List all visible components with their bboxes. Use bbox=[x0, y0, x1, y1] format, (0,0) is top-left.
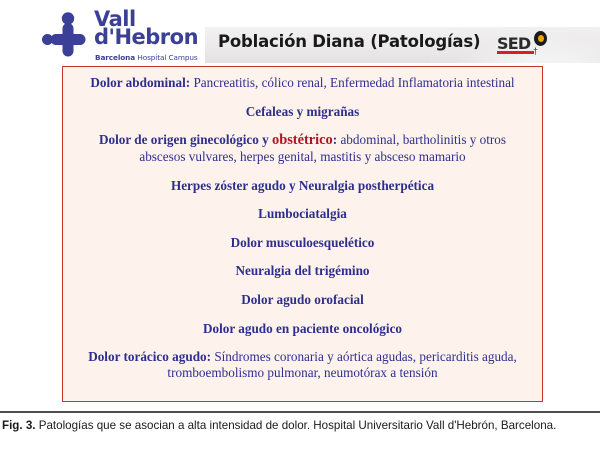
pathology-title: Dolor de origen ginecológico y bbox=[99, 132, 272, 147]
pathology-title: Dolor abdominal: bbox=[90, 75, 190, 90]
pathology-line: Dolor torácico agudo: Síndromes coronari… bbox=[73, 349, 532, 380]
pathology-detail: Pancreatitis, cólico renal, Enfermedad I… bbox=[190, 75, 514, 90]
sed-logo-underline bbox=[497, 51, 534, 54]
logo-subtitle-light: Hospital Campus bbox=[135, 53, 198, 62]
sed-target-icon bbox=[534, 31, 547, 46]
vall-dhebron-logo: Vall d'Hebron Barcelona Hospital Campus bbox=[42, 8, 212, 66]
pathology-detail: Síndromes coronaria y aórtica agudas, pe… bbox=[167, 349, 516, 380]
pathology-line: Lumbociatalgia bbox=[73, 206, 532, 222]
caption-divider bbox=[0, 411, 600, 413]
sed-runner-icon: † bbox=[533, 47, 538, 56]
vall-dhebron-cross-icon bbox=[42, 12, 94, 60]
pathology-title: Dolor musculoesquelético bbox=[231, 235, 375, 250]
figure-caption: Fig. 3. Patologías que se asocian a alta… bbox=[2, 418, 598, 433]
pathology-line: Dolor musculoesquelético bbox=[73, 235, 532, 251]
pathology-line: Dolor abdominal: Pancreatitis, cólico re… bbox=[73, 75, 532, 91]
pathology-title: Neuralgia del trigémino bbox=[235, 263, 369, 278]
pathology-title: Dolor agudo orofacial bbox=[241, 292, 364, 307]
slide-title: Población Diana (Patologías) bbox=[218, 32, 518, 51]
pathology-line: Dolor de origen ginecológico y obstétric… bbox=[73, 132, 532, 165]
pathology-title: Dolor torácico agudo: bbox=[88, 349, 211, 364]
pathology-line: Herpes zóster agudo y Neuralgia postherp… bbox=[73, 178, 532, 194]
figure-slide: Vall d'Hebron Barcelona Hospital Campus … bbox=[0, 0, 600, 408]
pathology-title: Cefaleas y migrañas bbox=[246, 104, 360, 119]
vall-dhebron-wordmark: Vall d'Hebron bbox=[94, 10, 198, 46]
caption-label: Fig. 3. bbox=[2, 419, 36, 432]
pathology-line: Dolor agudo en paciente oncológico bbox=[73, 321, 532, 337]
pathology-line: Cefaleas y migrañas bbox=[73, 104, 532, 120]
vall-dhebron-subtitle: Barcelona Hospital Campus bbox=[95, 53, 198, 62]
pathology-title: Dolor agudo en paciente oncológico bbox=[203, 321, 402, 336]
pathology-line: Neuralgia del trigémino bbox=[73, 263, 532, 279]
pathologies-box: Dolor abdominal: Pancreatitis, cólico re… bbox=[62, 66, 543, 402]
logo-subtitle-bold: Barcelona bbox=[95, 53, 135, 62]
pathology-title: Lumbociatalgia bbox=[258, 206, 347, 221]
sed-logo: SED † bbox=[497, 32, 555, 62]
logo-line-2: d'Hebron bbox=[94, 28, 198, 46]
pathology-line: Dolor agudo orofacial bbox=[73, 292, 532, 308]
pathology-title: Herpes zóster agudo y Neuralgia postherp… bbox=[171, 178, 434, 193]
caption-text: Patologías que se asocian a alta intensi… bbox=[36, 419, 557, 432]
pathology-highlight: obstétrico bbox=[272, 132, 333, 148]
